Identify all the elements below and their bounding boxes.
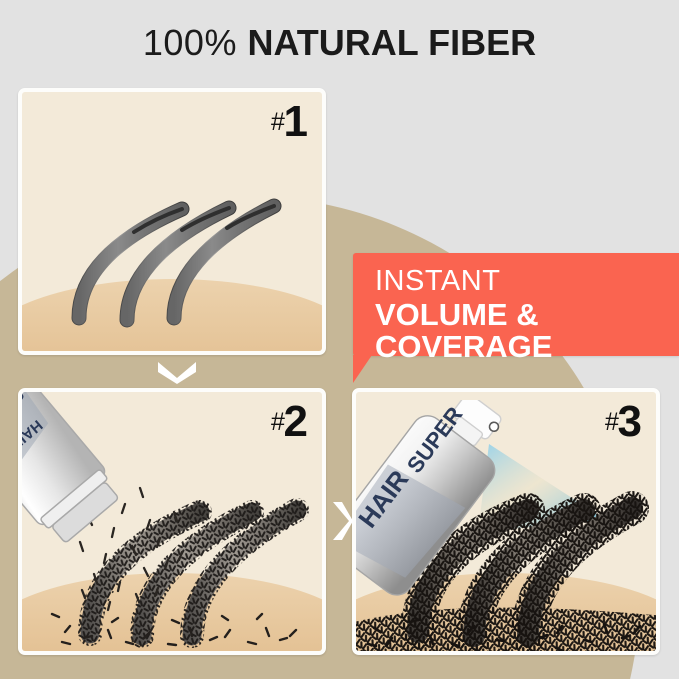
- step-panel-1: #1: [18, 88, 326, 355]
- shaker-bottle: SUPER MILLION HAIR: [22, 392, 174, 560]
- spray-bottle: SUPER HAIR: [356, 400, 510, 630]
- step-3-hash: #: [605, 408, 618, 436]
- step-2-badge: #2: [271, 400, 308, 444]
- step-3-illustration: SUPER HAIR #3: [356, 392, 656, 651]
- chevron-right-icon: [329, 500, 353, 542]
- callout-banner: INSTANT VOLUME & COVERAGE: [353, 253, 679, 356]
- step-1-badge: #1: [271, 100, 308, 144]
- chevron-down-icon: [155, 358, 199, 384]
- step-3-badge: #3: [605, 400, 642, 444]
- callout-banner-tail: [353, 355, 372, 383]
- step-1-hash: #: [271, 108, 284, 136]
- page-title: 100% NATURAL FIBER: [0, 22, 679, 64]
- step-1-illustration: #1: [22, 92, 322, 351]
- step-panel-3: SUPER HAIR #3: [352, 388, 660, 655]
- step-3-number: 3: [618, 397, 642, 446]
- step-1-number: 1: [284, 97, 308, 146]
- title-main: NATURAL FIBER: [247, 22, 536, 63]
- callout-text: INSTANT VOLUME & COVERAGE: [375, 266, 679, 364]
- step-2-illustration: SUPER MILLION HAIR #2: [22, 392, 322, 651]
- title-percent: 100%: [143, 22, 237, 63]
- callout-line-2: VOLUME & COVERAGE: [375, 299, 679, 363]
- step-panel-2: SUPER MILLION HAIR #2: [18, 388, 326, 655]
- step-2-hash: #: [271, 408, 284, 436]
- callout-line-1: INSTANT: [375, 266, 679, 296]
- step-2-number: 2: [284, 397, 308, 446]
- infographic-canvas: 100% NATURAL FIBER: [0, 0, 679, 679]
